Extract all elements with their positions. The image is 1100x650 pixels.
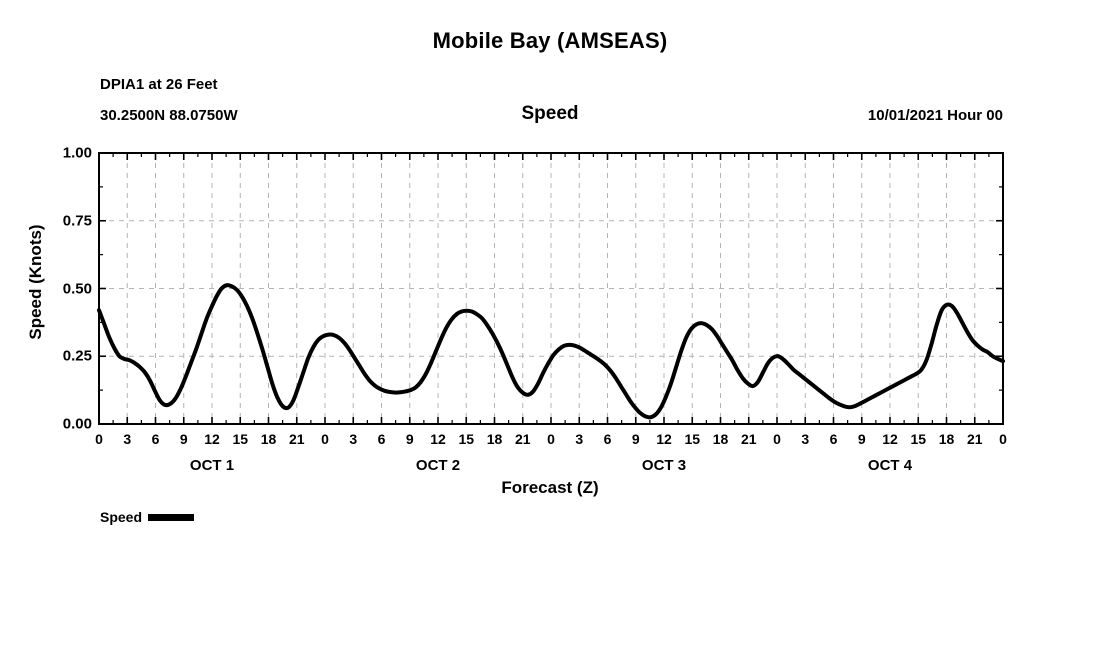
chart-page: Mobile Bay (AMSEAS) DPIA1 at 26 Feet 30.… [0,0,1100,650]
legend-label-speed: Speed [100,509,142,525]
legend-swatch-speed [148,514,194,521]
chart-plot-area [0,0,1100,650]
chart-legend: Speed [100,509,194,525]
